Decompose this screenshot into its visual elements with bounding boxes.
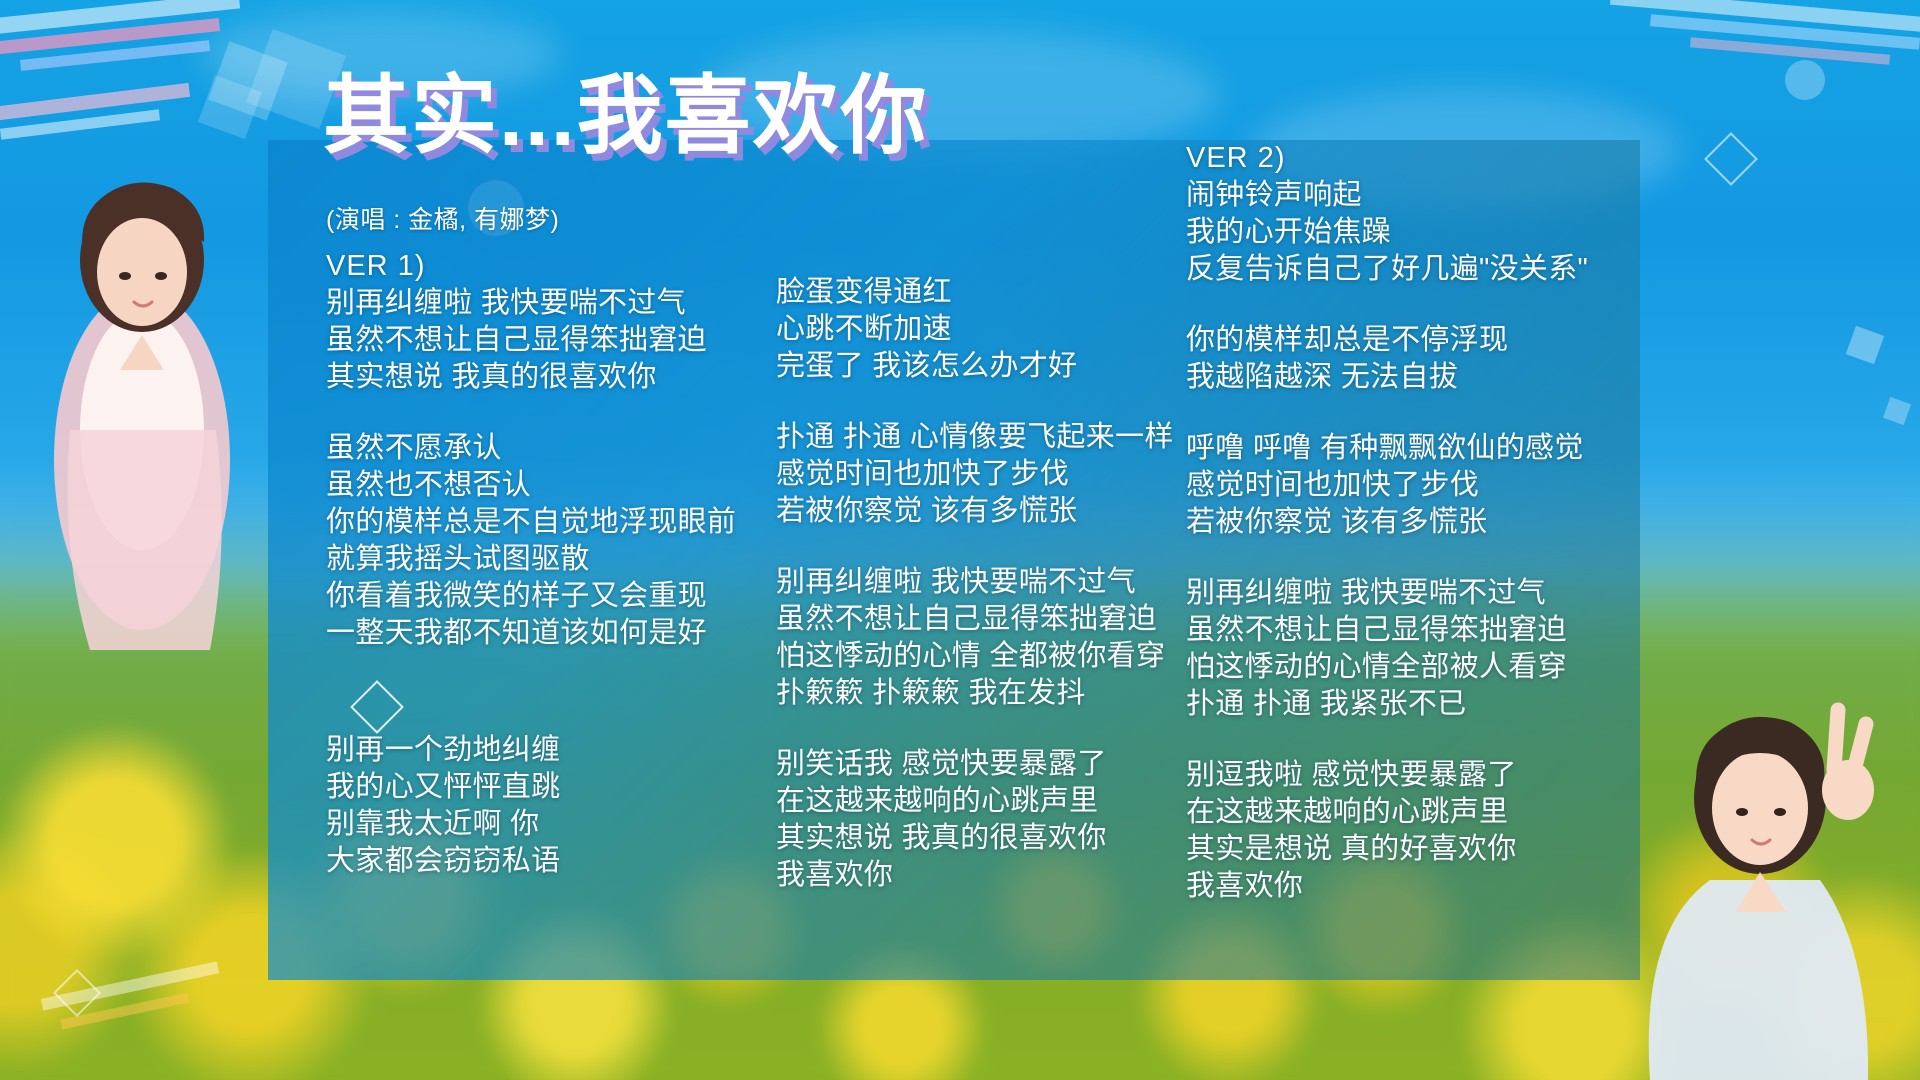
lyric-line: 我越陷越深 无法自拔 — [1186, 359, 1606, 396]
lyric-line: 我的心又怦怦直跳 — [326, 769, 776, 806]
lyric-line: 我的心开始焦躁 — [1186, 214, 1606, 251]
lyric-line: 怕这悸动的心情 全都被你看穿 — [776, 638, 1186, 675]
lyric-line: 我喜欢你 — [1186, 868, 1606, 905]
lyrics-columns: VER 1) 别再纠缠啦 我快要喘不过气 虽然不想让自己显得笨拙窘迫 其实想说 … — [326, 140, 1626, 980]
lyric-line: 若被你察觉 该有多慌张 — [776, 493, 1186, 530]
lyric-line: 一整天我都不知道该如何是好 — [326, 615, 776, 652]
lyric-line: 扑簌簌 扑簌簌 我在发抖 — [776, 675, 1186, 712]
poster-stage: 其实...我喜欢你 (演唱 : 金橘, 有娜梦) VER 1) 别再纠缠啦 我快… — [0, 0, 1920, 1080]
lyrics-column-1: VER 1) 别再纠缠啦 我快要喘不过气 虽然不想让自己显得笨拙窘迫 其实想说 … — [326, 140, 776, 914]
lyric-line: 其实想说 我真的很喜欢你 — [326, 359, 776, 396]
lyric-line: 大家都会窃窃私语 — [326, 843, 776, 880]
lyric-line: 你看着我微笑的样子又会重现 — [326, 578, 776, 615]
lyrics-block: 呼噜 呼噜 有种飘飘欲仙的感觉 感觉时间也加快了步伐 若被你察觉 该有多慌张 — [1186, 430, 1606, 541]
lyric-line: 别再纠缠啦 我快要喘不过气 — [776, 564, 1186, 601]
lyric-line: 反复告诉自己了好几遍"没关系" — [1186, 251, 1606, 288]
lyric-line: 在这越来越响的心跳声里 — [1186, 794, 1606, 831]
lyrics-block: 扑通 扑通 心情像要飞起来一样 感觉时间也加快了步伐 若被你察觉 该有多慌张 — [776, 419, 1186, 530]
lyrics-block: 你的模样却总是不停浮现 我越陷越深 无法自拔 — [1186, 322, 1606, 396]
lyric-panel: 其实...我喜欢你 (演唱 : 金橘, 有娜梦) VER 1) 别再纠缠啦 我快… — [268, 140, 1640, 980]
lyric-line: 虽然不愿承认 — [326, 430, 776, 467]
lyric-line: 别逗我啦 感觉快要暴露了 — [1186, 757, 1606, 794]
lyric-line: 别笑话我 感觉快要暴露了 — [776, 746, 1186, 783]
lyrics-block: 别再纠缠啦 我快要喘不过气 虽然不想让自己显得笨拙窘迫 怕这悸动的心情 全都被你… — [776, 564, 1186, 712]
lyrics-block: 脸蛋变得通红 心跳不断加速 完蛋了 我该怎么办才好 — [776, 274, 1186, 385]
lyric-line: 就算我摇头试图驱散 — [326, 541, 776, 578]
lyrics-block: 别逗我啦 感觉快要暴露了 在这越来越响的心跳声里 其实是想说 真的好喜欢你 我喜… — [1186, 757, 1606, 905]
lyrics-block: 别笑话我 感觉快要暴露了 在这越来越响的心跳声里 其实想说 我真的很喜欢你 我喜… — [776, 746, 1186, 894]
lyric-line: 别再一个劲地纠缠 — [326, 732, 776, 769]
lyric-line: 你的模样总是不自觉地浮现眼前 — [326, 504, 776, 541]
lyric-line: 扑通 扑通 心情像要飞起来一样 — [776, 419, 1186, 456]
lyric-line: 扑通 扑通 我紧张不已 — [1186, 686, 1606, 723]
lyrics-block: 虽然不愿承认 虽然也不想否认 你的模样总是不自觉地浮现眼前 就算我摇头试图驱散 … — [326, 430, 776, 652]
lyric-line: 完蛋了 我该怎么办才好 — [776, 348, 1186, 385]
lyric-line: 闹钟铃声响起 — [1186, 177, 1606, 214]
lyric-line: 若被你察觉 该有多慌张 — [1186, 504, 1606, 541]
lyric-line: 我喜欢你 — [776, 857, 1186, 894]
lyric-line: 别再纠缠啦 我快要喘不过气 — [1186, 575, 1606, 612]
photo-girl-left — [30, 130, 260, 690]
lyric-line: 别靠我太近啊 你 — [326, 806, 776, 843]
lyric-line: 别再纠缠啦 我快要喘不过气 — [326, 285, 776, 322]
lyric-line: 其实是想说 真的好喜欢你 — [1186, 831, 1606, 868]
lyric-line: 虽然不想让自己显得笨拙窘迫 — [776, 601, 1186, 638]
lyric-line: 感觉时间也加快了步伐 — [1186, 467, 1606, 504]
lyric-line: 虽然不想让自己显得笨拙窘迫 — [1186, 612, 1606, 649]
lyrics-block: VER 2) 闹钟铃声响起 我的心开始焦躁 反复告诉自己了好几遍"没关系" — [1186, 140, 1606, 288]
lyrics-block: 别再一个劲地纠缠 我的心又怦怦直跳 别靠我太近啊 你 大家都会窃窃私语 — [326, 732, 776, 880]
deco-diamond-column-1 — [350, 680, 404, 734]
lyric-line: 感觉时间也加快了步伐 — [776, 456, 1186, 493]
lyric-line: 怕这悸动的心情全部被人看穿 — [1186, 649, 1606, 686]
lyric-line: 虽然也不想否认 — [326, 467, 776, 504]
lyric-line: 其实想说 我真的很喜欢你 — [776, 820, 1186, 857]
verse-heading: VER 2) — [1186, 140, 1606, 177]
verse-heading: VER 1) — [326, 248, 776, 285]
lyric-line: 心跳不断加速 — [776, 311, 1186, 348]
lyric-line: 脸蛋变得通红 — [776, 274, 1186, 311]
lyric-line: 你的模样却总是不停浮现 — [1186, 322, 1606, 359]
lyric-line: 呼噜 呼噜 有种飘飘欲仙的感觉 — [1186, 430, 1606, 467]
lyrics-block: VER 1) 别再纠缠啦 我快要喘不过气 虽然不想让自己显得笨拙窘迫 其实想说 … — [326, 248, 776, 396]
lyrics-block: 别再纠缠啦 我快要喘不过气 虽然不想让自己显得笨拙窘迫 怕这悸动的心情全部被人看… — [1186, 575, 1606, 723]
lyrics-column-2: 脸蛋变得通红 心跳不断加速 完蛋了 我该怎么办才好 扑通 扑通 心情像要飞起来一… — [776, 140, 1186, 928]
lyrics-column-3: VER 2) 闹钟铃声响起 我的心开始焦躁 反复告诉自己了好几遍"没关系" 你的… — [1186, 140, 1606, 939]
lyric-line: 虽然不想让自己显得笨拙窘迫 — [326, 322, 776, 359]
lyric-line: 在这越来越响的心跳声里 — [776, 783, 1186, 820]
